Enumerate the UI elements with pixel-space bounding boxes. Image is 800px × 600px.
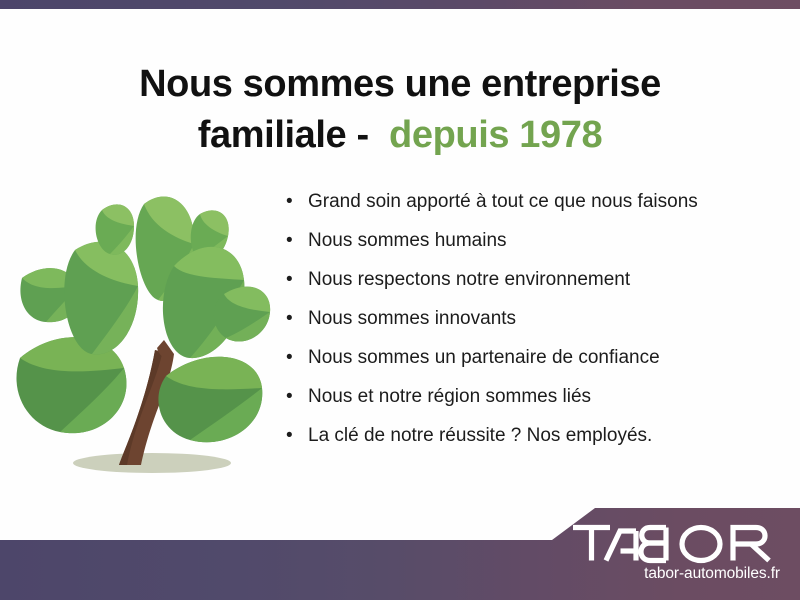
tree-shadow-ellipse [73, 453, 231, 473]
list-item: • Nous sommes humains [282, 229, 782, 253]
list-item-label: La clé de notre réussite ? Nos employés. [308, 425, 652, 446]
title-line-2: familiale - depuis 1978 [0, 110, 800, 160]
bullet-marker-icon: • [286, 385, 293, 409]
list-item: • Nous et notre région sommes liés [282, 385, 782, 409]
bullet-marker-icon: • [286, 268, 293, 292]
leaf-top-small-left [96, 204, 134, 254]
bullet-marker-icon: • [286, 424, 293, 448]
title-dash-glyph: - [356, 114, 368, 156]
list-item: • Nous sommes un partenaire de confiance [282, 346, 782, 370]
bullet-marker-icon: • [286, 190, 293, 214]
title-dash [346, 114, 356, 156]
list-item-label: Grand soin apporté à tout ce que nous fa… [308, 191, 698, 212]
leaf-right-lower-large [158, 357, 262, 442]
tree-illustration [14, 182, 276, 482]
brand-url: tabor-automobiles.fr [570, 565, 782, 583]
title-line-2-prefix: familiale [198, 114, 346, 156]
list-item-label: Nous respectons notre environnement [308, 269, 630, 290]
value-list: • Grand soin apporté à tout ce que nous … [282, 190, 782, 448]
list-item-label: Nous sommes un partenaire de confiance [308, 347, 660, 368]
brand-logo: tabor-automobiles.fr [570, 522, 782, 583]
top-accent-band [0, 0, 800, 9]
title-line-1: Nous sommes une entreprise [0, 59, 800, 109]
list-item: • Grand soin apporté à tout ce que nous … [282, 190, 782, 214]
leaf-left-tall [64, 242, 138, 355]
tabor-wordmark-icon [570, 522, 782, 564]
title-accent-since: depuis 1978 [389, 114, 602, 156]
slide-root: Nous sommes une entreprise familiale - d… [0, 0, 800, 600]
leaf-left-lower-large [16, 337, 126, 433]
list-item: • Nous respectons notre environnement [282, 268, 782, 292]
page-title: Nous sommes une entreprise familiale - d… [0, 59, 800, 159]
footer-bar: tabor-automobiles.fr [0, 508, 800, 600]
bullet-marker-icon: • [286, 229, 293, 253]
list-item: • Nous sommes innovants [282, 307, 782, 331]
bullet-marker-icon: • [286, 307, 293, 331]
list-item-label: Nous sommes innovants [308, 308, 516, 329]
list-item: • La clé de notre réussite ? Nos employé… [282, 424, 782, 448]
bullet-marker-icon: • [286, 346, 293, 370]
list-item-label: Nous et notre région sommes liés [308, 386, 591, 407]
title-spacer [369, 114, 389, 156]
list-item-label: Nous sommes humains [308, 230, 507, 251]
